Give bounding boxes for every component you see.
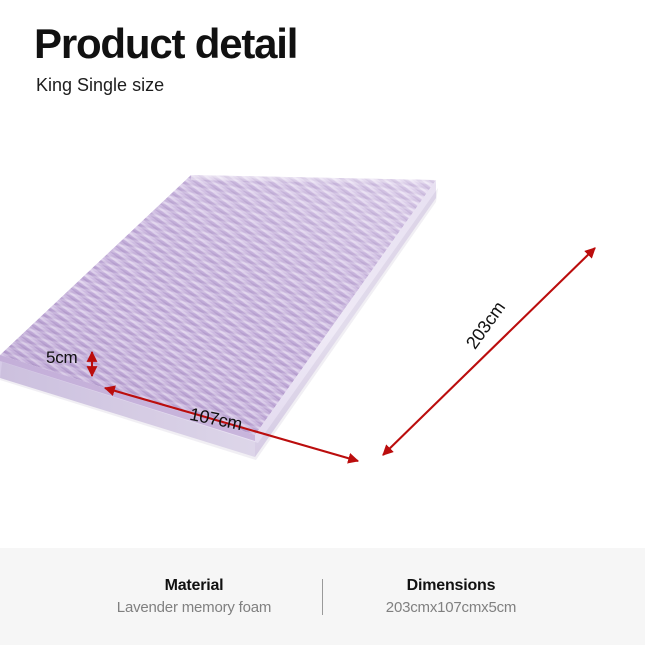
spec-material-title: Material [76,574,312,597]
spec-footer: Material Lavender memory foam Dimensions… [0,548,645,645]
spec-divider [322,579,323,615]
spec-dimensions-value: 203cmx107cmx5cm [333,597,569,620]
spec-dimensions: Dimensions 203cmx107cmx5cm [333,574,569,620]
page-subtitle: King Single size [36,76,164,94]
spec-material: Material Lavender memory foam [76,574,312,620]
spec-dimensions-title: Dimensions [333,574,569,597]
height-dimension-label: 5cm [46,348,78,368]
length-dimension-arrow [383,248,595,455]
mattress-topper-illustration [0,110,645,540]
page-title: Product detail [34,23,297,65]
spec-material-value: Lavender memory foam [76,597,312,620]
product-illustration [0,110,645,540]
